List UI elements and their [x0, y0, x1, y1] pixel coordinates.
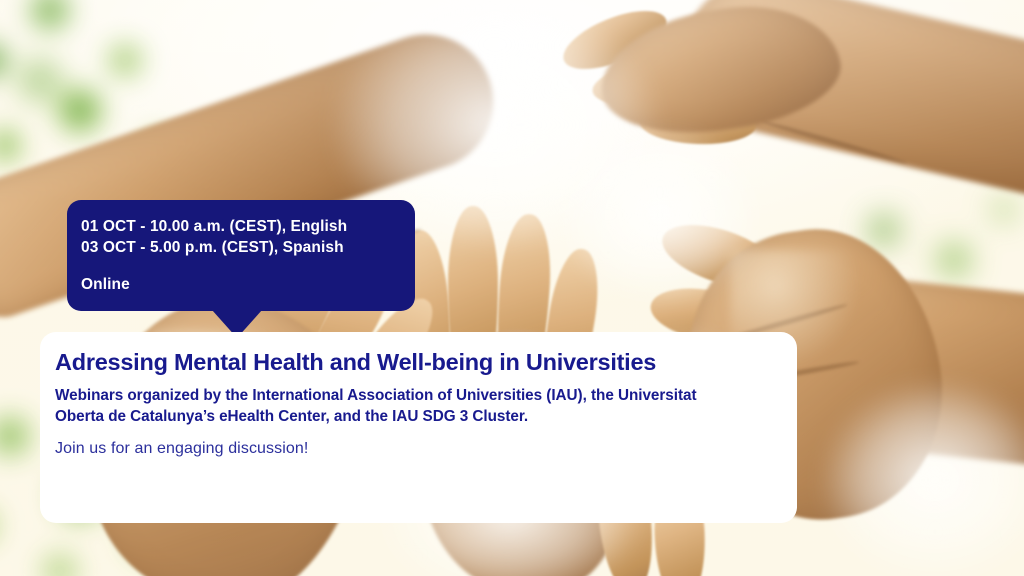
card-cta-text: Join us for an engaging discussion! — [55, 440, 797, 458]
schedule-callout: 01 OCT - 10.00 a.m. (CEST), English 03 O… — [67, 200, 415, 311]
schedule-format: Online — [81, 274, 415, 295]
schedule-line-spanish: 03 OCT - 5.00 p.m. (CEST), Spanish — [81, 237, 415, 258]
page-title: Adressing Mental Health and Well-being i… — [55, 349, 797, 376]
info-card: Adressing Mental Health and Well-being i… — [40, 332, 797, 523]
card-description: Webinars organized by the International … — [55, 386, 715, 427]
schedule-line-english: 01 OCT - 10.00 a.m. (CEST), English — [81, 216, 415, 237]
